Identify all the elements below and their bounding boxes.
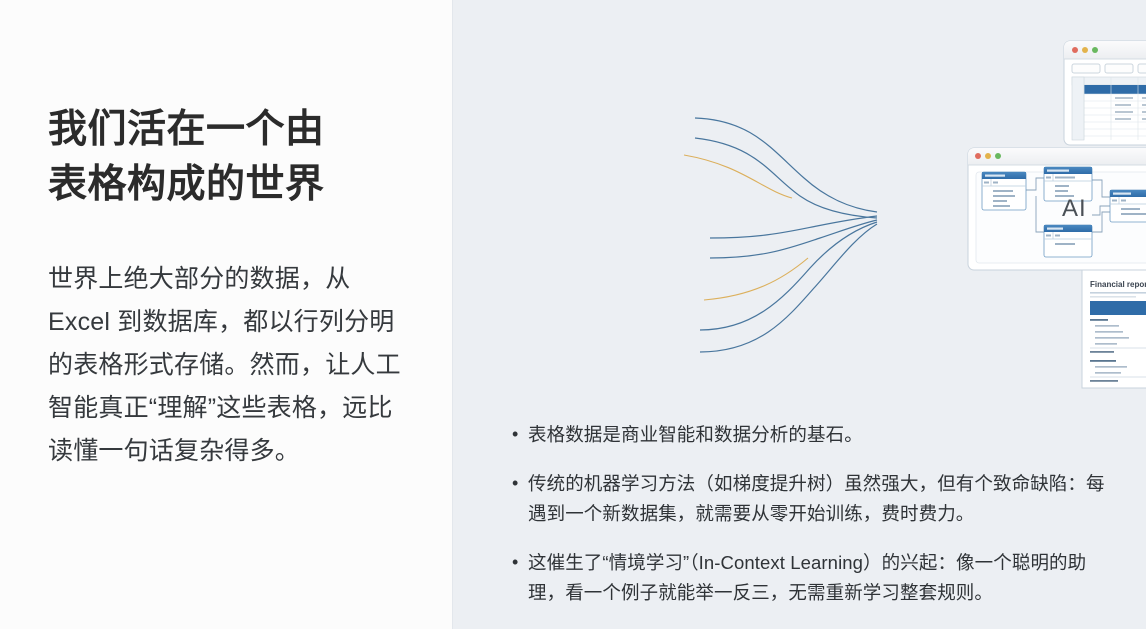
gold-accent-curves xyxy=(684,155,808,300)
page-title: 我们活在一个由 表格构成的世界 xyxy=(48,102,420,213)
connector-curves xyxy=(695,118,877,352)
bullet-text: 表格数据是商业智能和数据分析的基石。 xyxy=(528,420,1112,450)
bullet-marker-icon: • xyxy=(512,469,528,498)
spreadsheet-window[interactable] xyxy=(1064,41,1146,145)
database-schema-window[interactable] xyxy=(968,148,1146,270)
left-text-panel: 我们活在一个由 表格构成的世界 世界上绝大部分的数据，从 Excel 到数据库，… xyxy=(0,0,452,629)
schema-table-store[interactable] xyxy=(982,172,1026,210)
traffic-lights[interactable] xyxy=(975,153,1001,159)
right-content-panel: Financial report xyxy=(452,0,1146,629)
body-paragraph: 世界上绝大部分的数据，从 Excel 到数据库，都以行列分明的表格形式存储。然而… xyxy=(48,258,412,473)
list-item: • 这催生了“情境学习”（In-Context Learning）的兴起：像一个… xyxy=(512,548,1112,608)
illustration-area: Financial report xyxy=(452,0,1146,410)
bullet-text: 这催生了“情境学习”（In-Context Learning）的兴起：像一个聪明… xyxy=(528,548,1112,608)
financial-report-document[interactable]: Financial report xyxy=(1082,270,1146,388)
list-item: • 传统的机器学习方法（如梯度提升树）虽然强大，但有个致命缺陷：每遇到一个新数据… xyxy=(512,469,1112,529)
list-item: • 表格数据是商业智能和数据分析的基石。 xyxy=(512,420,1112,450)
bullet-text: 传统的机器学习方法（如梯度提升树）虽然强大，但有个致命缺陷：每遇到一个新数据集，… xyxy=(528,469,1112,529)
traffic-lights[interactable] xyxy=(1072,47,1098,53)
report-title: Financial report xyxy=(1090,280,1146,289)
schema-table-table[interactable] xyxy=(1044,225,1092,257)
bullet-marker-icon: • xyxy=(512,548,528,577)
bullet-list: • 表格数据是商业智能和数据分析的基石。 • 传统的机器学习方法（如梯度提升树）… xyxy=(512,420,1112,627)
ai-label: AI xyxy=(1062,195,1087,223)
report-table-header xyxy=(1090,301,1146,315)
headline-line-1: 我们活在一个由 xyxy=(48,102,420,157)
slide-root: 我们活在一个由 表格构成的世界 世界上绝大部分的数据，从 Excel 到数据库，… xyxy=(0,0,1146,629)
illustration-svg: Financial report xyxy=(452,0,1146,410)
bullet-marker-icon: • xyxy=(512,420,528,449)
schema-table-tables[interactable] xyxy=(1110,190,1146,222)
headline-line-2: 表格构成的世界 xyxy=(48,157,420,212)
